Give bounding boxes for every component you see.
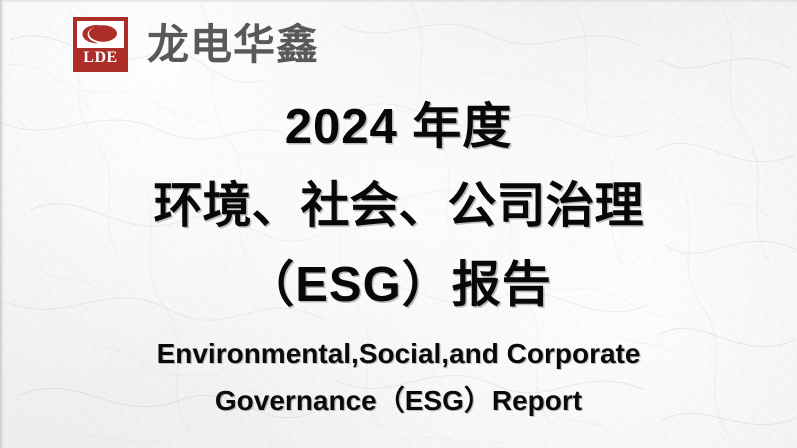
- ellipse-swoosh-icon: [80, 23, 121, 46]
- logo-emblem-panel: [77, 21, 124, 48]
- title-line-esg-cn: 环境、社会、公司治理: [0, 167, 797, 246]
- brand-wordmark: 龙电华鑫: [147, 24, 319, 66]
- lde-logo-mark: LDE: [73, 17, 128, 72]
- subtitle-line-2: Governance（ESG）Report: [0, 377, 797, 424]
- logo-mark-text: LDE: [77, 48, 124, 68]
- brand-logo-lockup: LDE 龙电华鑫: [73, 17, 319, 72]
- cover-title-block: 2024 年度 环境、社会、公司治理 （ESG）报告: [0, 88, 797, 325]
- subtitle-line-1: Environmental,Social,and Corporate: [0, 330, 797, 377]
- report-cover-page: LDE 龙电华鑫 2024 年度 环境、社会、公司治理 （ESG）报告 Envi…: [0, 0, 797, 448]
- cover-subtitle-block: Environmental,Social,and Corporate Gover…: [0, 330, 797, 424]
- title-line-year: 2024 年度: [0, 88, 797, 167]
- title-line-report-cn: （ESG）报告: [0, 246, 797, 325]
- top-edge-shade: [0, 0, 797, 3]
